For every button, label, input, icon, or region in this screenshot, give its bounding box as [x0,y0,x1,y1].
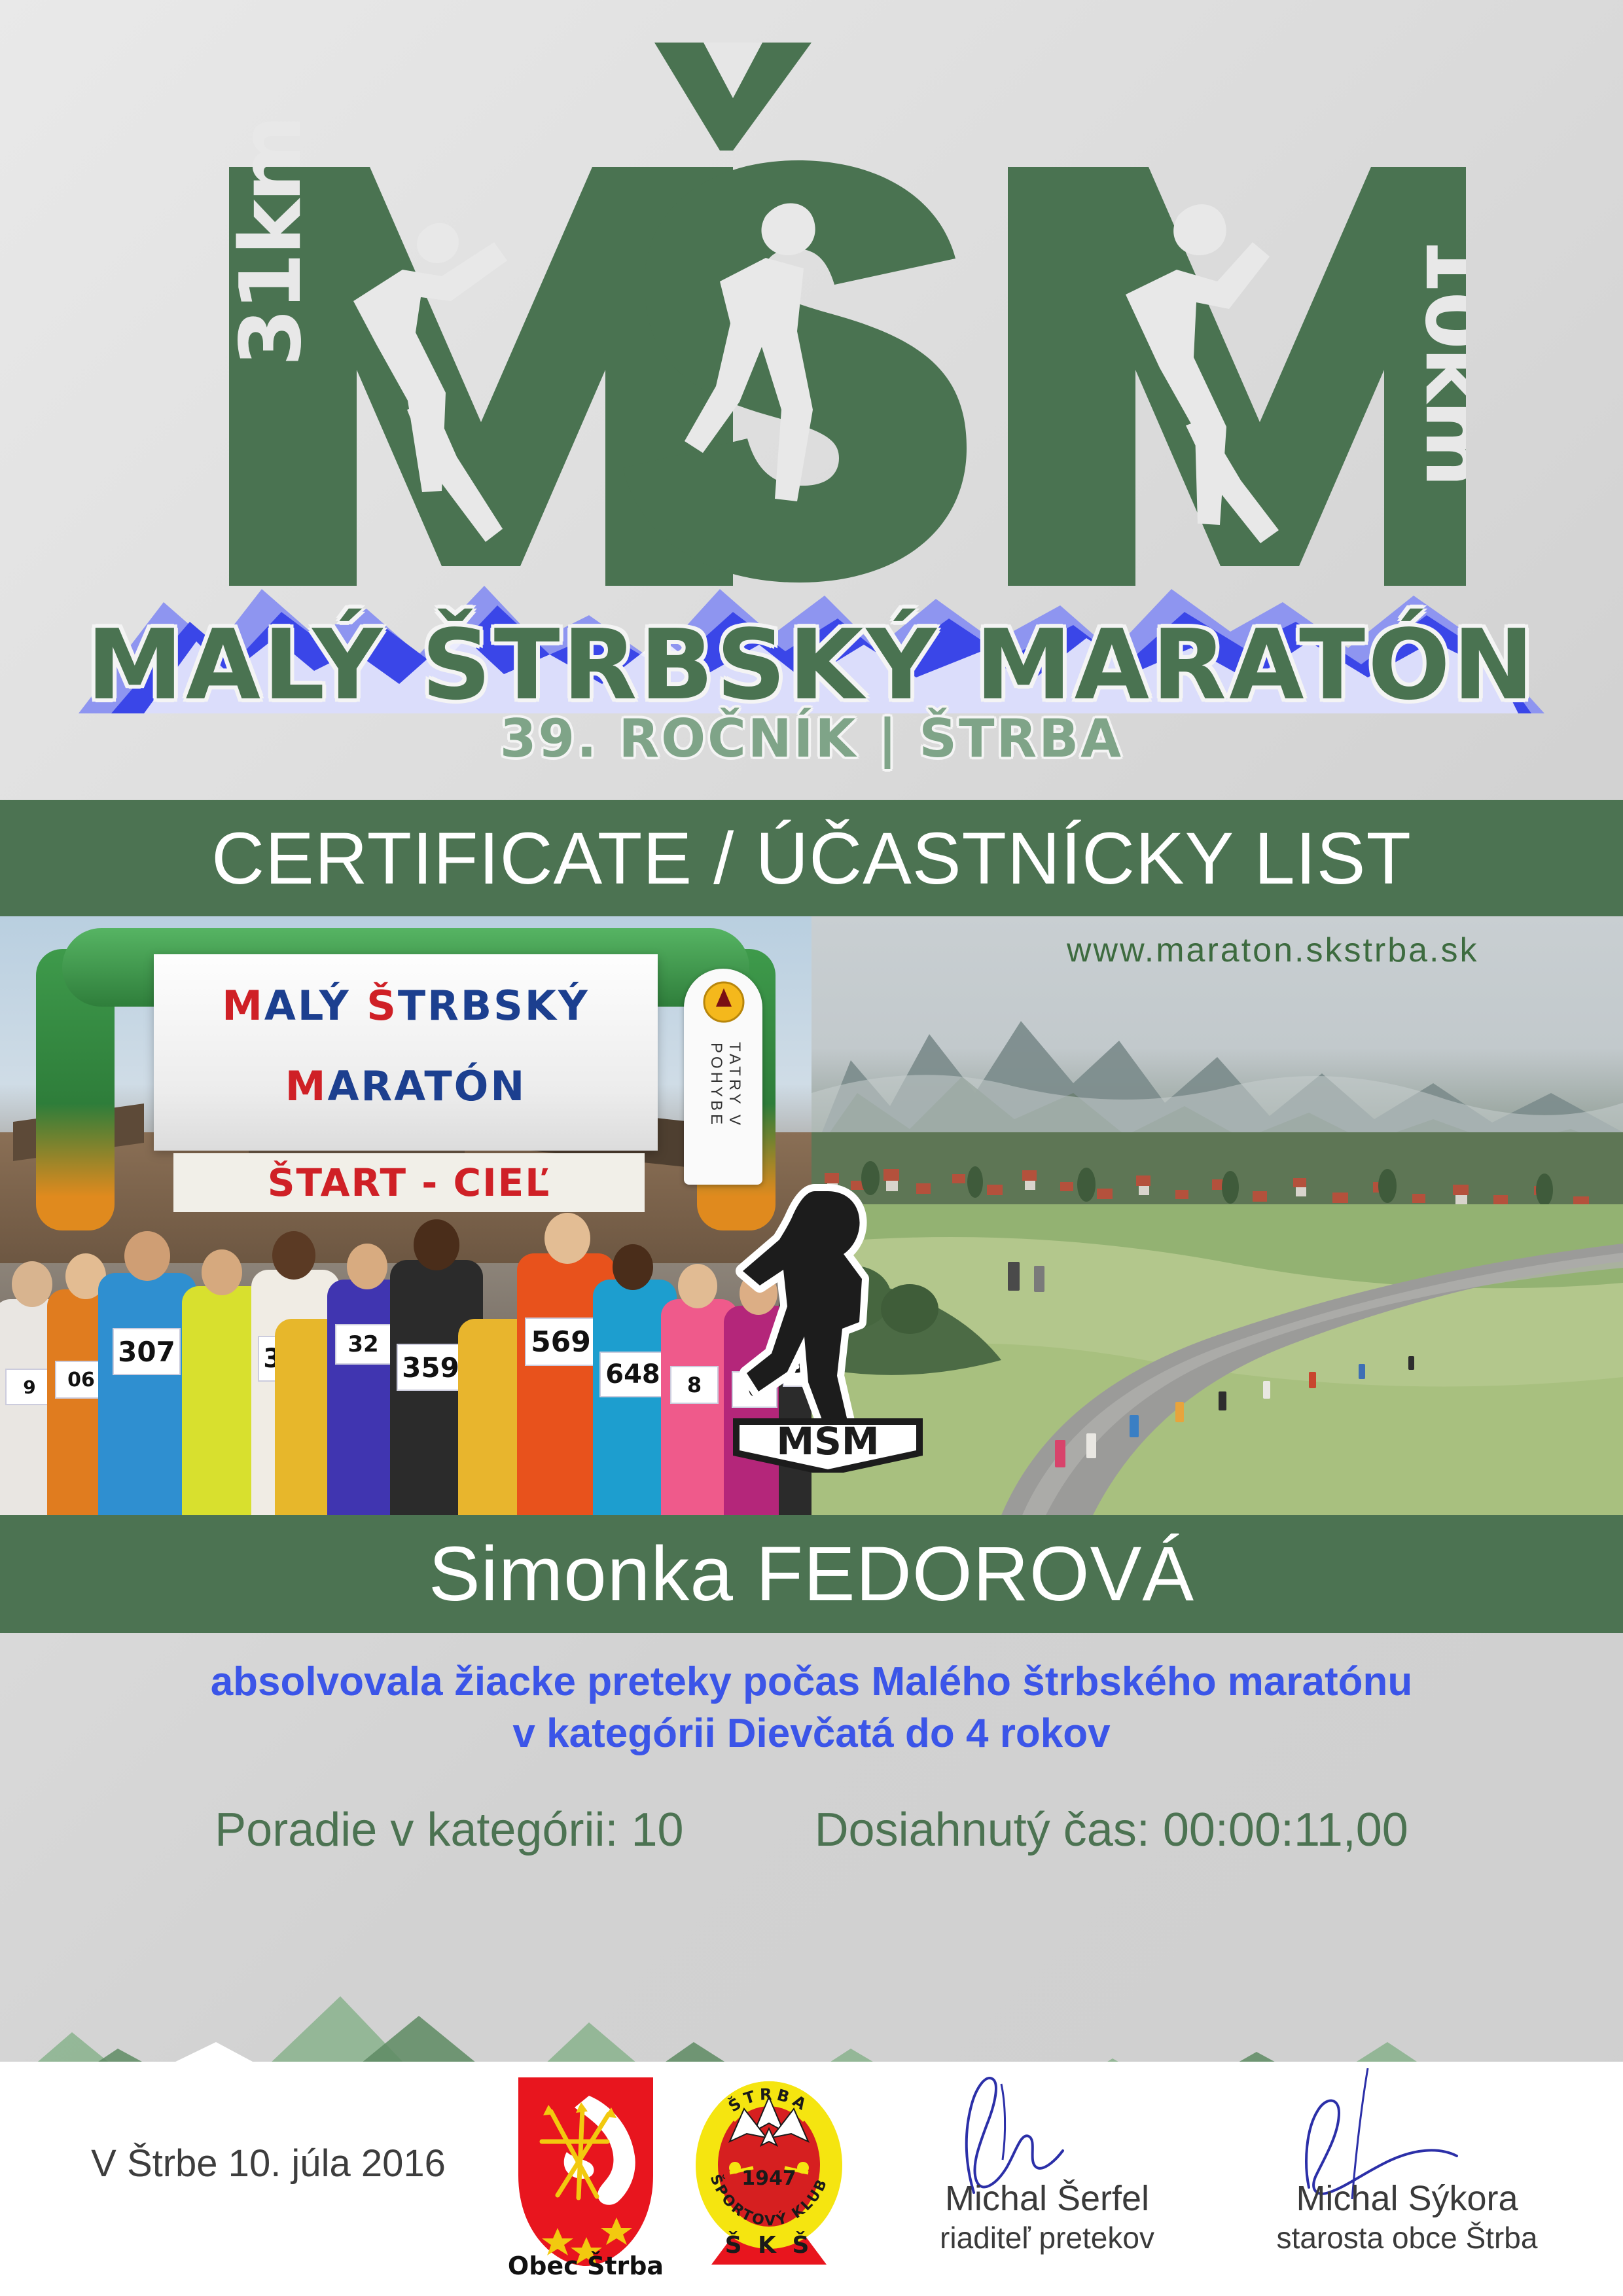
bib-number: 307 [113,1328,181,1375]
issue-date: V Štrbe 10. júla 2016 [59,2142,478,2185]
distant-runner [1408,1356,1414,1370]
bib-number: 648 [599,1352,666,1397]
signatory-name: Michal Sýkora [1224,2178,1590,2219]
distant-runner [1263,1381,1270,1399]
runner-head [414,1219,459,1270]
sports-club-badge-icon: 1947 ŠTRBA ŠPORTOVÝ KLUB Š K Š [684,2068,854,2271]
bib-number: 32 [335,1324,391,1365]
club-badge-bottom-text: Š K Š [725,2231,813,2259]
sponsor-flag-logo-icon [702,980,745,1026]
photo-start-line: MALÝ ŠTRBSKÝ MARATÓN ŠTART - CIEĽ TATRY … [0,916,811,1515]
distant-runner [1219,1391,1226,1410]
event-title: MALÝ ŠTRBSKÝ MARATÓN [0,609,1623,721]
club-badge-year: 1947 [741,2167,796,2190]
msm-letters-svg: 31km 10km [157,20,1466,596]
results-row: Poradie v kategórii: 10 Dosiahnutý čas: … [0,1803,1623,1857]
start-finish-banner: ŠTART - CIEĽ [173,1153,645,1212]
distant-runner [1309,1372,1316,1388]
bib-number: 8 [670,1366,719,1404]
description-line-1: absolvovala žiacke preteky počas Malého … [0,1656,1623,1708]
msm-runner-emblem: MŠM [730,1165,926,1473]
distant-runner [1130,1415,1139,1437]
inflatable-start-arch: MALÝ ŠTRBSKÝ MARATÓN ŠTART - CIEĽ [36,923,776,1230]
msm-wordmark-graphic: 31km 10km [0,20,1623,609]
field-svg [811,1204,1623,1515]
distance-left-label: 31km [223,117,320,367]
signature-block-director: Michal Šerfel riaditeľ pretekov [864,2062,1230,2296]
photo-tatra-panorama: www.maraton.skstrba.sk [811,916,1623,1515]
certificate-page: 31km 10km MALÝ ŠTRBSKÝ MARATÓN 39. ROČNÍ… [0,0,1623,2296]
tatra-peaks [811,942,1623,1158]
municipality-crest-label: Obec Štrba [497,2251,674,2280]
signatory-role: riaditeľ pretekov [864,2220,1230,2255]
spectator [1008,1262,1020,1291]
runner-head [613,1244,653,1290]
category-rank: Poradie v kategórii: 10 [215,1803,683,1857]
runner-head [678,1264,717,1308]
bib-number: 359 [397,1344,465,1391]
footer: V Štrbe 10. júla 2016 Ob [0,2062,1623,2296]
runner-crowd: 9 06 307 358 32 359 [0,1227,811,1515]
runner-head [12,1261,52,1307]
distant-runner [1175,1402,1184,1422]
bib-number: 569 [525,1318,597,1366]
spectator [1034,1266,1044,1292]
achievement-description: absolvovala žiacke preteky počas Malého … [0,1656,1623,1760]
signatory-name: Michal Šerfel [864,2178,1230,2219]
grass-field [811,1204,1623,1515]
website-url[interactable]: www.maraton.skstrba.sk [1067,931,1616,970]
runner-head [544,1213,590,1264]
arch-banner-line2: MARATÓN [154,1062,658,1110]
signatory-role: starosta obce Štrba [1224,2220,1590,2255]
emblem-label: MŠM [776,1418,879,1463]
bib-number: 9 [5,1369,54,1405]
participant-name-band: Simonka FEDOROVÁ [0,1515,1623,1633]
runner-head [272,1231,315,1280]
participant-name: Simonka FEDOROVÁ [429,1530,1194,1619]
certificate-heading: CERTIFICATE / ÚČASTNÍCKY LIST [211,816,1412,901]
event-edition: 39. ROČNÍK | ŠTRBA [0,708,1623,769]
finish-time: Dosiahnutý čas: 00:00:11,00 [815,1803,1408,1857]
description-line-2: v kategórii Dievčatá do 4 rokov [0,1708,1623,1759]
municipality-crest-icon [510,2073,661,2270]
runner-head [124,1231,170,1281]
signature-block-mayor: Michal Sýkora starosta obce Štrba [1224,2062,1590,2296]
arch-banner-line1: MALÝ ŠTRBSKÝ [154,982,658,1030]
event-logo-block: 31km 10km MALÝ ŠTRBSKÝ MARATÓN 39. ROČNÍ… [0,0,1623,798]
distant-runner [1359,1364,1365,1379]
arch-banner: MALÝ ŠTRBSKÝ MARATÓN [154,954,658,1151]
distant-runner [1055,1440,1065,1467]
distance-right-label: 10km [1406,236,1466,485]
sponsor-flag: TATRY V POHYBE [684,969,762,1185]
distant-runner [1086,1433,1096,1458]
sponsor-flag-label: TATRY V POHYBE [707,1003,743,1167]
runner-head [347,1244,387,1289]
runner-head [202,1249,242,1295]
start-finish-label: ŠTART - CIEĽ [268,1160,551,1205]
certificate-heading-band: CERTIFICATE / ÚČASTNÍCKY LIST [0,800,1623,916]
